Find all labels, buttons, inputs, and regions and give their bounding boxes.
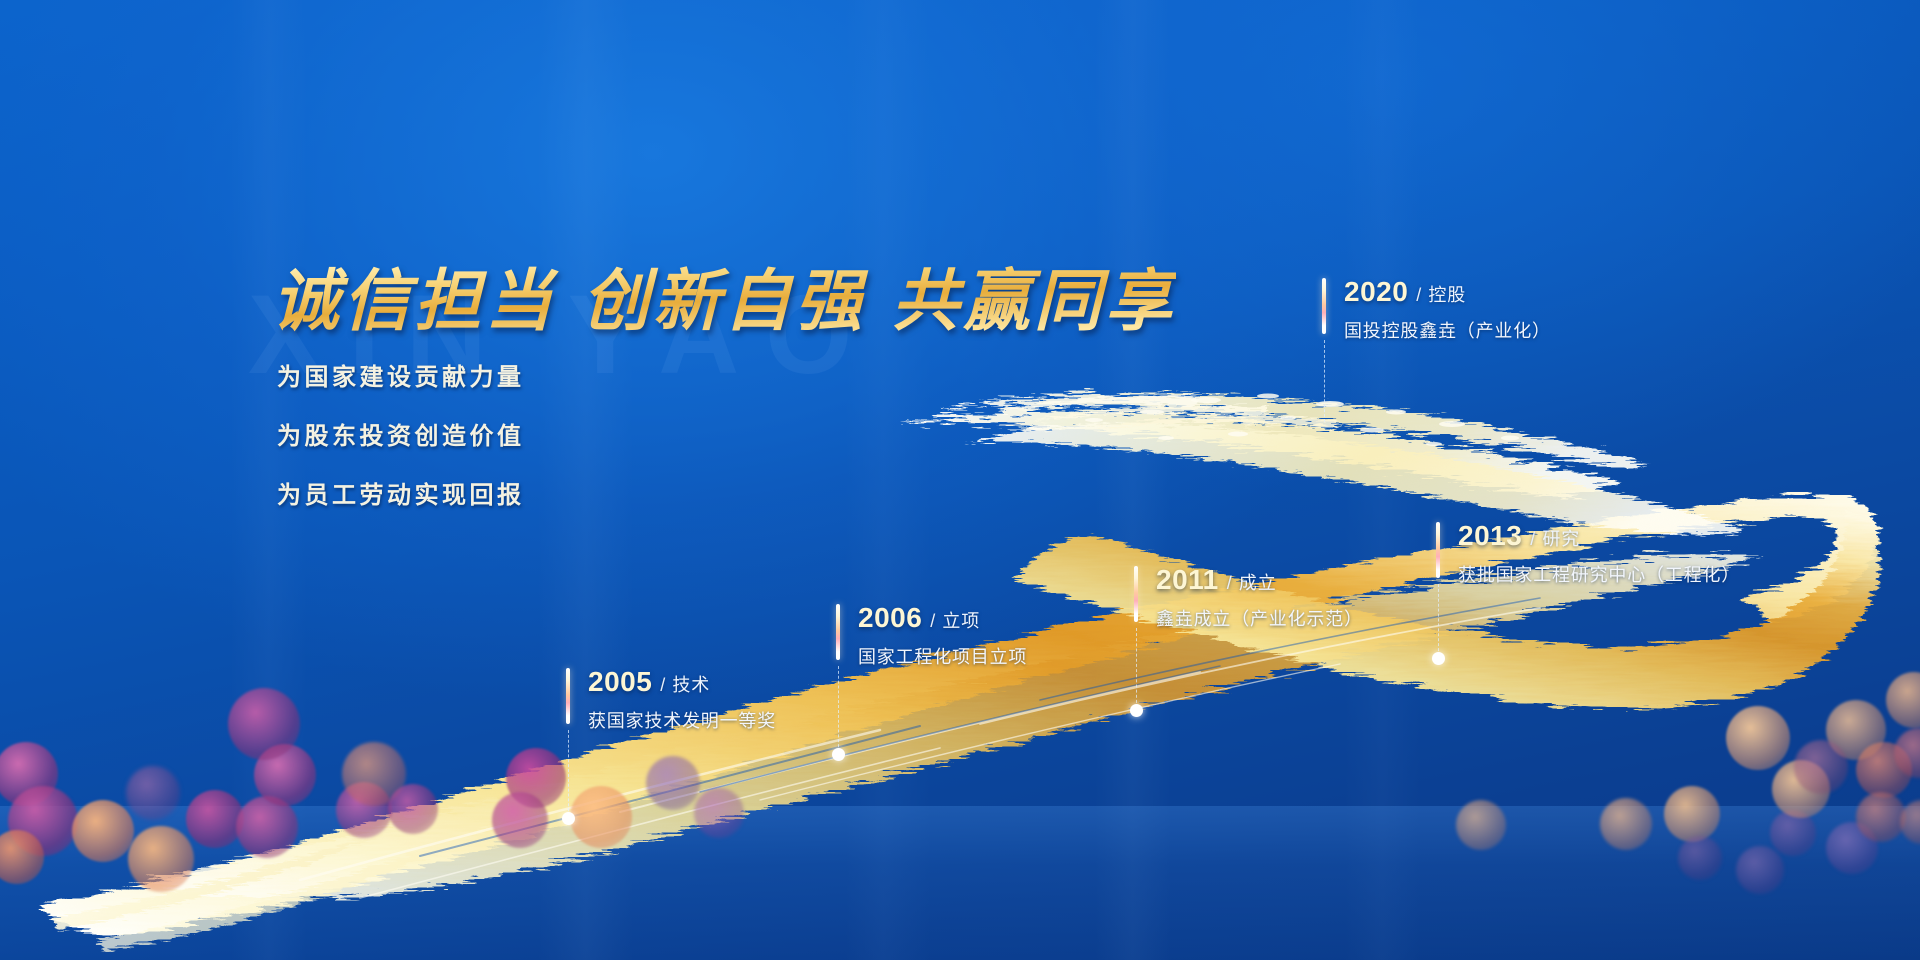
banner-stage: XIN YAO 诚信担当创新自强共赢同享 为国家建设贡献力量 为股东投资创造价值…: [0, 0, 1920, 960]
milestone-category: 研究: [1542, 525, 1580, 551]
slogan-item: 为员工劳动实现回报: [277, 475, 525, 510]
milestone-category: 成立: [1239, 569, 1277, 595]
headline-part-3: 共赢同享: [892, 264, 1176, 339]
slogan-item: 为股东投资创造价值: [277, 416, 525, 451]
milestone-description: 鑫垚成立（产业化示范）: [1156, 605, 1363, 631]
page-title: 诚信担当创新自强共赢同享: [272, 247, 1176, 344]
milestone-heading: 2005 / 技术: [588, 666, 776, 698]
milestone-body: 2020 / 控股 国投控股鑫垚（产业化）: [1344, 276, 1551, 343]
milestone-year: 2020: [1344, 276, 1408, 308]
milestone-accent-bar: [1322, 278, 1326, 334]
headline-part-1: 诚信担当: [272, 264, 556, 339]
milestone-leader-line-2011: [1136, 628, 1137, 708]
milestone-separator: /: [1416, 285, 1421, 306]
horizon-band: [0, 806, 1920, 960]
milestone-accent-bar: [836, 604, 840, 660]
milestone-body: 2005 / 技术 获国家技术发明一等奖: [588, 666, 776, 733]
milestone-body: 2006 / 立项 国家工程化项目立项: [858, 602, 1027, 669]
milestone-description: 国家工程化项目立项: [858, 643, 1027, 669]
milestone-year: 2005: [588, 666, 652, 698]
milestone-separator: /: [1530, 529, 1535, 550]
milestone-heading: 2013 / 研究: [1458, 520, 1740, 552]
milestone-accent-bar: [566, 668, 570, 724]
headline-part-2: 创新自强: [582, 264, 866, 339]
milestone-year: 2013: [1458, 520, 1522, 552]
milestone-description: 国投控股鑫垚（产业化）: [1344, 317, 1551, 343]
milestone-leader-line-2005: [568, 730, 569, 816]
milestone-body: 2011 / 成立 鑫垚成立（产业化示范）: [1156, 564, 1363, 631]
slogan-list: 为国家建设贡献力量 为股东投资创造价值 为员工劳动实现回报: [277, 357, 525, 510]
milestone-body: 2013 / 研究 获批国家工程研究中心（工程化）: [1458, 520, 1740, 587]
milestone-heading: 2020 / 控股: [1344, 276, 1551, 308]
milestone-leader-line-2006: [838, 666, 839, 752]
milestone-dot-2006: [832, 748, 845, 761]
milestone-category: 立项: [942, 607, 980, 633]
milestone-description: 获批国家工程研究中心（工程化）: [1458, 561, 1740, 587]
milestone-dot-2005: [562, 812, 575, 825]
milestone-year: 2006: [858, 602, 922, 634]
milestone-accent-bar: [1436, 522, 1440, 578]
slogan-item: 为国家建设贡献力量: [277, 357, 525, 392]
milestone-category: 技术: [672, 671, 710, 697]
milestone-leader-line-2020: [1324, 340, 1325, 422]
milestone-accent-bar: [1134, 566, 1138, 622]
milestone-separator: /: [1227, 573, 1232, 594]
milestone-heading: 2006 / 立项: [858, 602, 1027, 634]
milestone-separator: /: [930, 611, 935, 632]
milestone-dot-2011: [1130, 704, 1143, 717]
milestone-description: 获国家技术发明一等奖: [588, 707, 776, 733]
milestone-leader-line-2013: [1438, 584, 1439, 656]
milestone-year: 2011: [1156, 564, 1219, 596]
milestone-category: 控股: [1428, 281, 1466, 307]
milestone-dot-2013: [1432, 652, 1445, 665]
milestone-separator: /: [660, 675, 665, 696]
milestone-heading: 2011 / 成立: [1156, 564, 1363, 596]
